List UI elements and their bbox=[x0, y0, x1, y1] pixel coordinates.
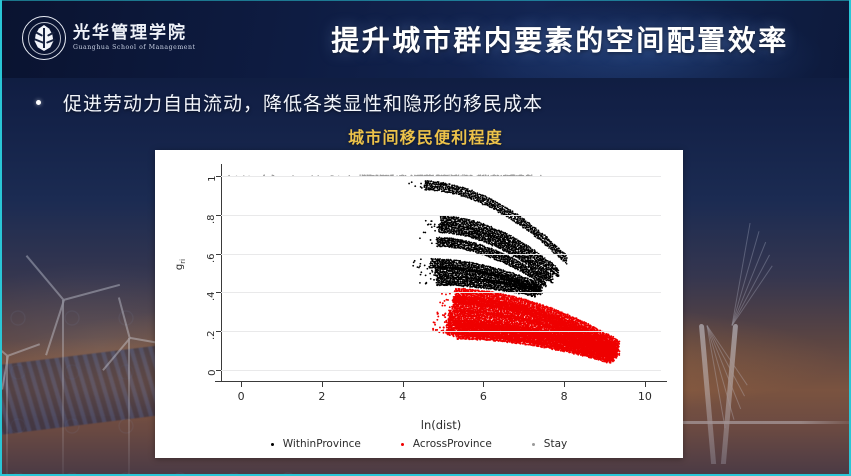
gridline bbox=[221, 331, 661, 332]
x-axis-tick bbox=[645, 382, 646, 387]
slide-canvas: 光华管理学院 Guanghua School of Management 提升城… bbox=[0, 0, 851, 476]
legend-label: WithinProvince bbox=[283, 438, 361, 450]
legend-item-withinprovince: WithinProvince bbox=[271, 438, 361, 450]
gridline bbox=[221, 215, 661, 216]
bullet-item: 促进劳动力自由流动，降低各类显性和隐形的移民成本 bbox=[36, 88, 736, 116]
chart-panel: gri 0.2.4.6.810246810 ln(dist) WithinPro… bbox=[155, 150, 683, 458]
y-axis-label: gri bbox=[174, 259, 187, 270]
legend-item-acrossprovince: AcrossProvince bbox=[401, 438, 492, 450]
bullet-dot-icon bbox=[36, 100, 41, 105]
gridline bbox=[221, 370, 661, 371]
legend-dot-icon bbox=[271, 443, 274, 446]
legend-dot-icon bbox=[401, 443, 404, 446]
legend-label: AcrossProvince bbox=[413, 438, 492, 450]
x-axis-label: ln(dist) bbox=[221, 418, 661, 432]
x-axis-tick bbox=[564, 382, 565, 387]
wind-turbine-icon bbox=[62, 300, 64, 476]
logo-name-en: Guanghua School of Management bbox=[73, 44, 196, 51]
y-axis-tick-label: .8 bbox=[207, 214, 218, 224]
x-axis-tick bbox=[322, 382, 323, 387]
wind-turbine-icon bbox=[6, 356, 8, 476]
x-axis-tick bbox=[403, 382, 404, 387]
y-axis-tick-label: 1 bbox=[207, 175, 218, 181]
institution-logo: 光华管理学院 Guanghua School of Management bbox=[22, 12, 212, 64]
legend-dot-icon bbox=[532, 443, 535, 446]
legend-label: Stay bbox=[544, 438, 567, 450]
gridline bbox=[221, 292, 661, 293]
x-axis-tick-label: 2 bbox=[318, 390, 325, 403]
x-axis-tick-label: 10 bbox=[638, 390, 652, 403]
x-axis-tick-label: 4 bbox=[399, 390, 406, 403]
x-axis-tick-label: 6 bbox=[480, 390, 487, 403]
chart-caption: 城市间移民便利程度 bbox=[0, 124, 851, 148]
y-axis-tick-label: .2 bbox=[207, 331, 218, 341]
gridline bbox=[221, 254, 661, 255]
x-axis-tick-label: 0 bbox=[238, 390, 245, 403]
x-axis-tick-label: 8 bbox=[561, 390, 568, 403]
slide-border-top bbox=[0, 0, 851, 1]
peking-university-seal-icon bbox=[22, 16, 66, 60]
plot-area: 0.2.4.6.810246810 bbox=[221, 164, 661, 382]
wind-turbine-icon bbox=[128, 338, 130, 476]
chart-legend: WithinProvince AcrossProvince Stay bbox=[155, 438, 683, 450]
y-axis-tick-label: .6 bbox=[207, 253, 218, 263]
bullet-text: 促进劳动力自由流动，降低各类显性和隐形的移民成本 bbox=[63, 89, 543, 116]
slide-border-left bbox=[0, 0, 2, 476]
gridline bbox=[221, 176, 661, 177]
legend-item-stay: Stay bbox=[532, 438, 567, 450]
logo-name-cn: 光华管理学院 bbox=[73, 25, 196, 43]
x-axis-tick bbox=[241, 382, 242, 387]
x-axis-tick bbox=[483, 382, 484, 387]
y-axis-tick-label: .4 bbox=[207, 292, 218, 302]
page-title: 提升城市群内要素的空间配置效率 bbox=[280, 18, 840, 64]
y-axis-tick-label: 0 bbox=[207, 370, 218, 376]
scatter-series-layer bbox=[221, 164, 661, 382]
